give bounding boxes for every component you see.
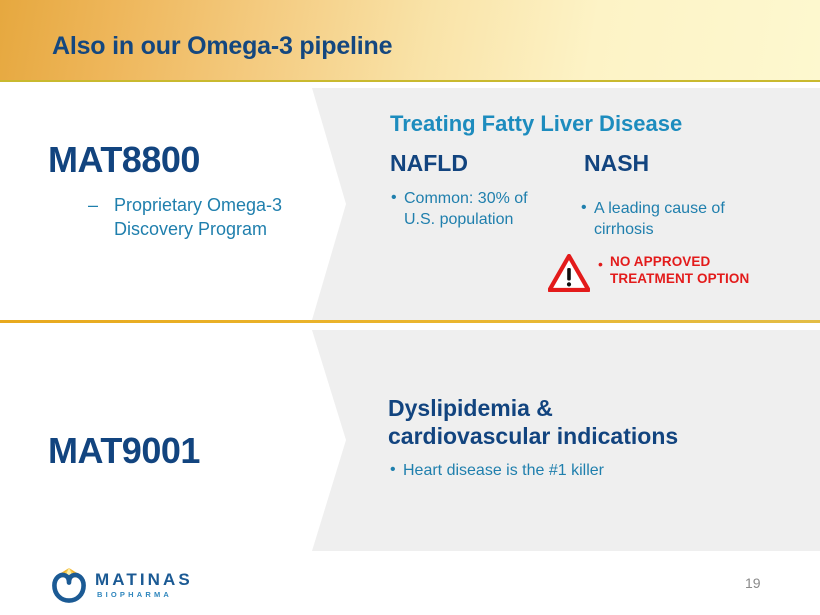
warning-text: NO APPROVED TREATMENT OPTION xyxy=(610,253,800,288)
section-heading-dyslipidemia-line2: cardiovascular indications xyxy=(388,423,678,449)
section-heading-dyslipidemia-line1: Dyslipidemia & xyxy=(388,395,553,421)
section-heading-treating-fatty-liver-disease: Treating Fatty Liver Disease xyxy=(390,111,682,137)
program-mat8800-subbullet-text: Proprietary Omega-3 Discovery Program xyxy=(114,194,338,242)
indication-heading-nash: NASH xyxy=(584,150,649,177)
indication-bullet-nash-text: A leading cause of cirrhosis xyxy=(594,198,761,241)
logo-company-name: MATINAS xyxy=(95,571,220,588)
indication-bullet-nafld-text: Common: 30% of U.S. population xyxy=(404,188,541,231)
matinas-wordmark: MATINAS BIOPHARMA xyxy=(95,571,220,599)
section-heading-dyslipidemia: Dyslipidemia & cardiovascular indication… xyxy=(388,394,758,450)
program-mat8800-subbullet: – Proprietary Omega-3 Discovery Program xyxy=(88,194,338,242)
program-name-mat8800: MAT8800 xyxy=(48,139,200,181)
warning-text-line1: NO APPROVED xyxy=(610,254,710,269)
indication-bullet-heart-disease: • Heart disease is the #1 killer xyxy=(390,461,720,482)
bullet-marker-icon: • xyxy=(391,187,397,208)
program-name-mat9001: MAT9001 xyxy=(48,430,200,472)
company-logo: MATINAS BIOPHARMA xyxy=(48,565,218,607)
indication-bullet-nafld: • Common: 30% of U.S. population xyxy=(391,188,541,231)
section-divider-gold xyxy=(0,320,820,323)
bullet-marker-icon: • xyxy=(390,460,396,481)
logo-company-tagline: BIOPHARMA xyxy=(97,591,220,599)
indication-heading-nafld: NAFLD xyxy=(390,150,468,177)
bullet-marker-icon: • xyxy=(581,197,587,218)
warning-triangle-icon xyxy=(548,254,590,292)
dash-marker: – xyxy=(88,194,98,218)
warning-callout: • NO APPROVED TREATMENT OPTION xyxy=(548,252,798,302)
warning-text-line2: TREATMENT OPTION xyxy=(610,271,749,286)
page-title: Also in our Omega-3 pipeline xyxy=(52,32,392,61)
indication-bullet-heart-disease-text: Heart disease is the #1 killer xyxy=(403,461,720,482)
bullet-marker-icon: • xyxy=(598,257,603,271)
indication-bullet-nash: • A leading cause of cirrhosis xyxy=(581,198,761,241)
page-number: 19 xyxy=(745,575,761,591)
matinas-logo-mark-icon xyxy=(48,565,90,607)
slide-canvas: Also in our Omega-3 pipeline MAT8800 – P… xyxy=(0,0,820,615)
header-divider-rule xyxy=(0,80,820,82)
